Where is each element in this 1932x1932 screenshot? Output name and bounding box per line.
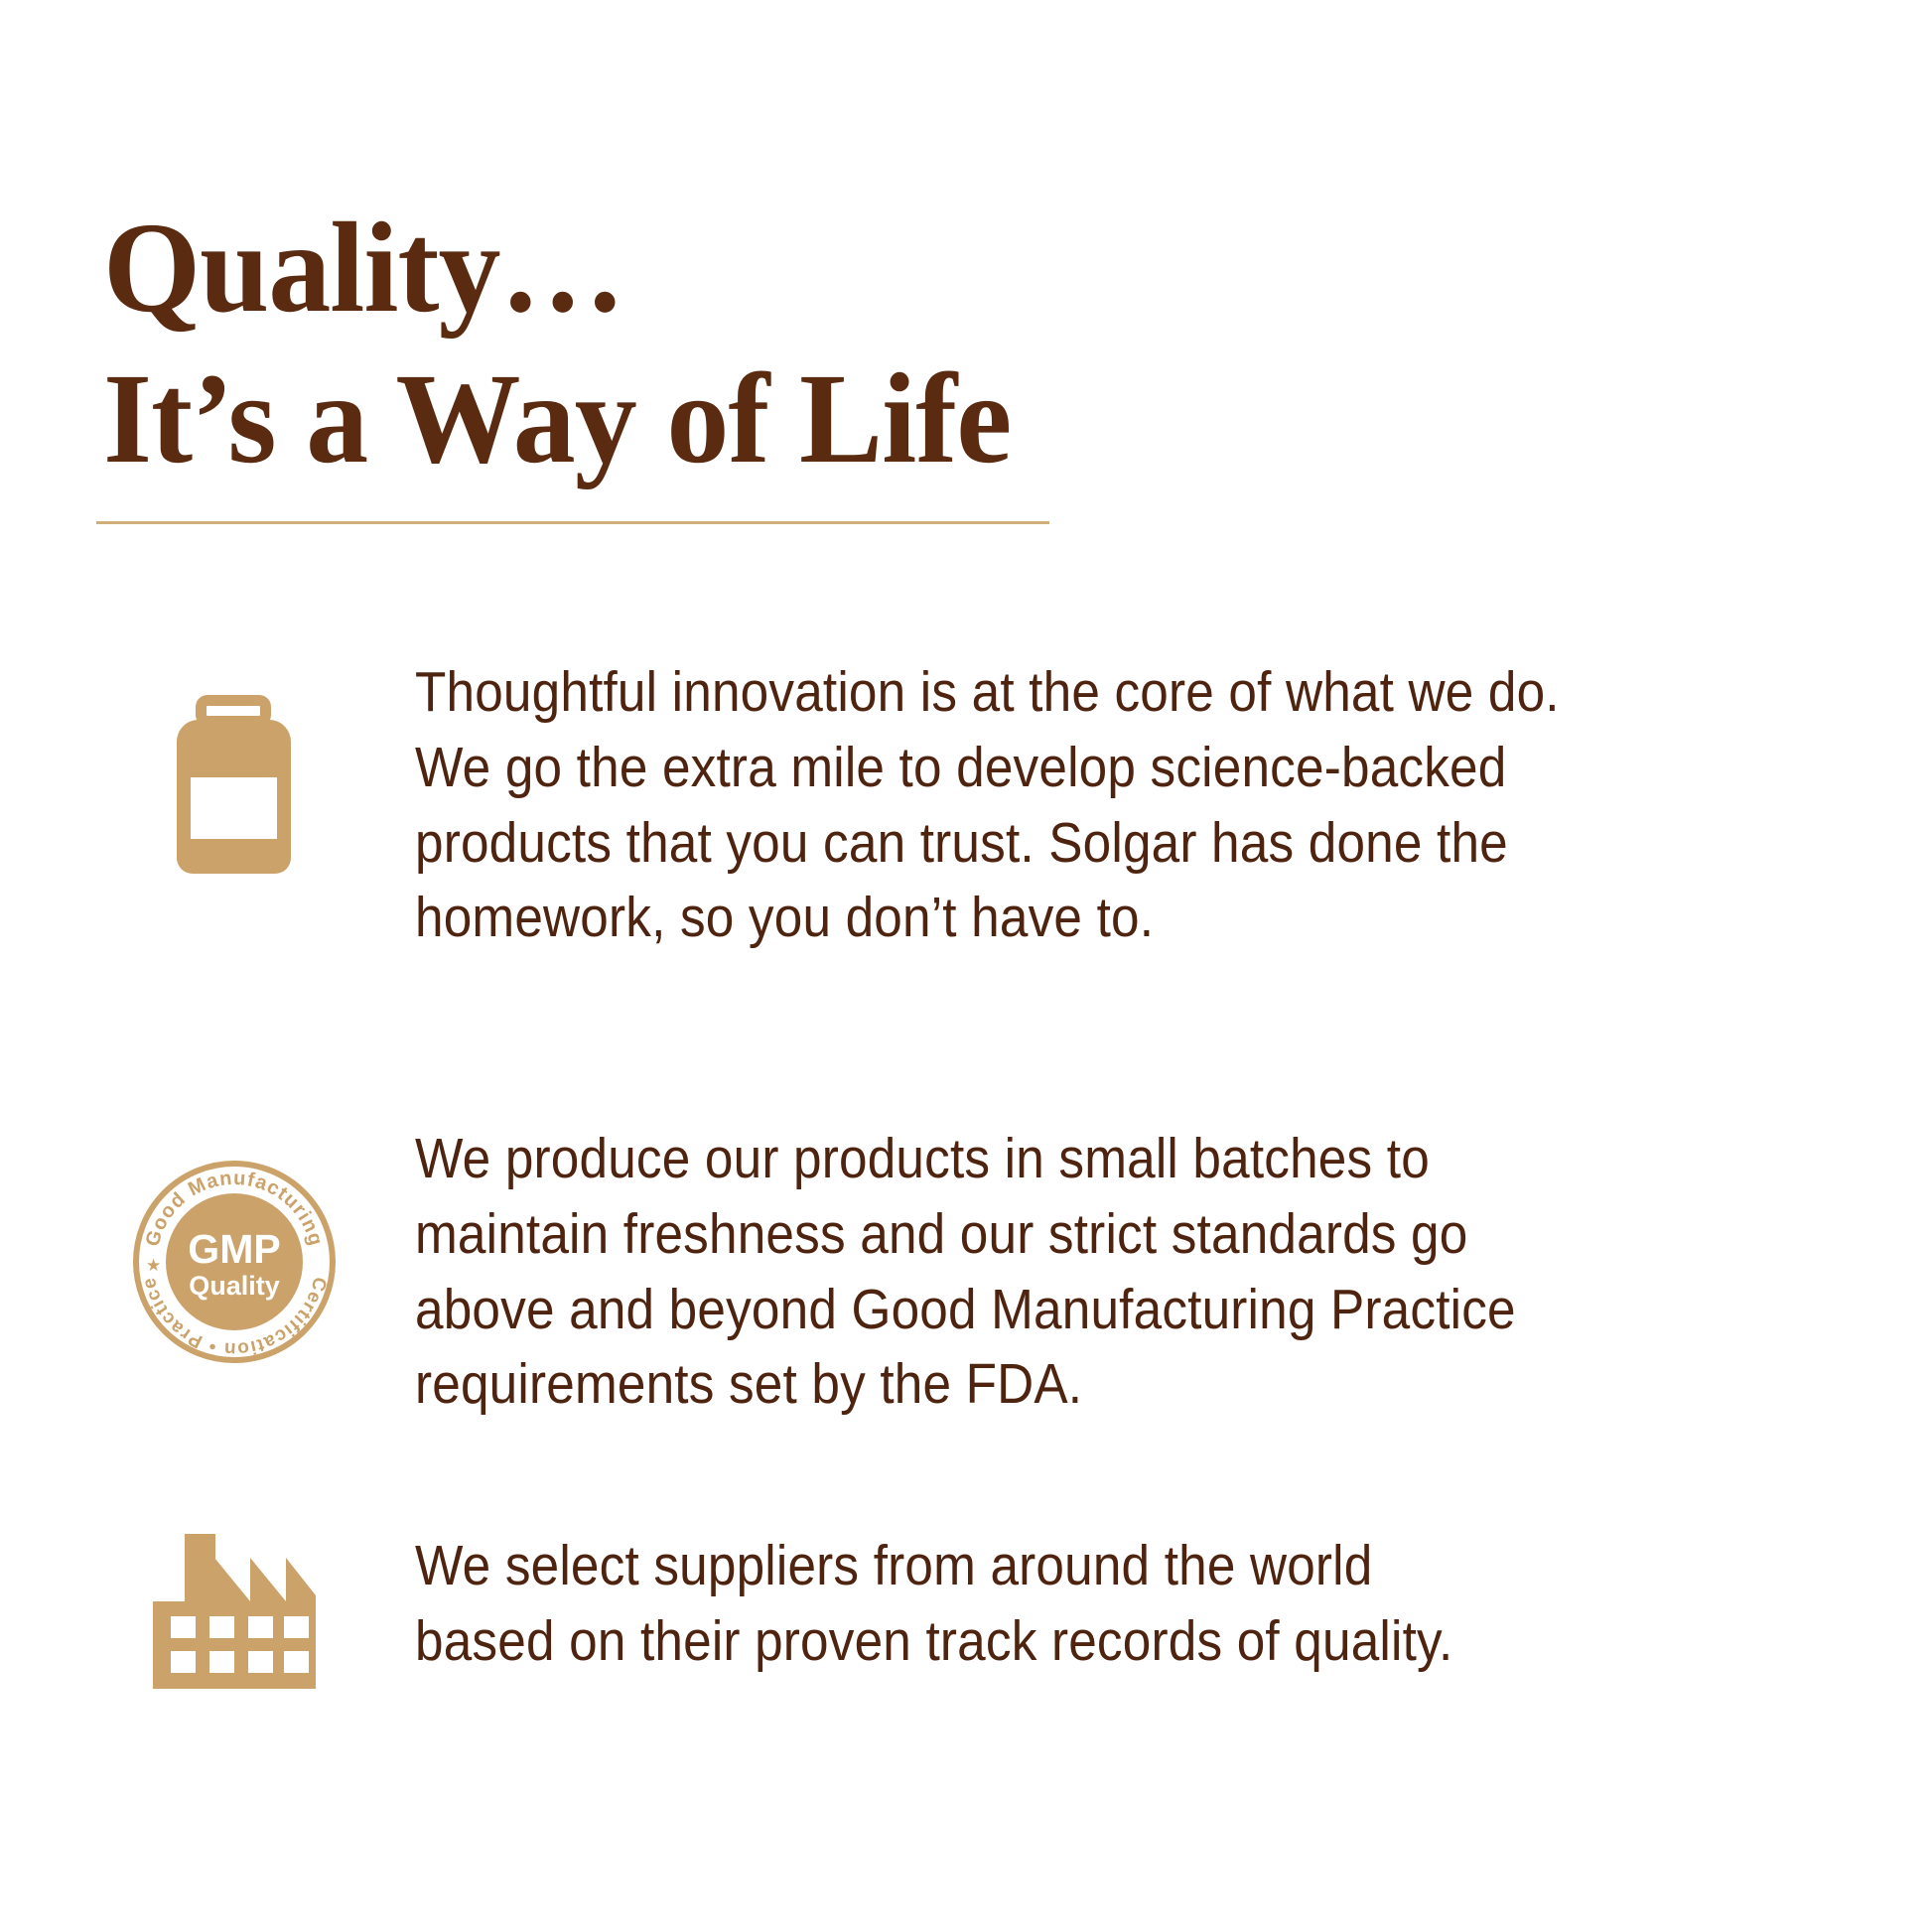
seal-center-quality: Quality (189, 1271, 280, 1301)
quality-page: Quality… It’s a Way of Life Thoughtful i… (0, 0, 1932, 1932)
feature-text-line: We produce our products in small batches… (415, 1122, 1666, 1197)
bottle-label-shape (191, 777, 277, 839)
feature-icon-slot (99, 655, 357, 894)
feature-text-line: Thoughtful innovation is at the core of … (415, 655, 1666, 731)
feature-text-line: based on their proven track records of q… (415, 1604, 1666, 1680)
feature-text-line: We select suppliers from around the worl… (415, 1529, 1666, 1604)
supplement-bottle-icon (177, 695, 291, 874)
page-title-line-2: It’s a Way of Life (103, 344, 1548, 494)
seal-center-gmp: GMP (188, 1226, 280, 1272)
page-title: Quality… It’s a Way of Life (103, 193, 1548, 494)
title-divider (96, 521, 1049, 524)
feature-text-gmp: We produce our products in small batches… (415, 1122, 1666, 1423)
feature-text-line: requirements set by the FDA. (415, 1347, 1666, 1423)
feature-icon-slot: Good Manufacturing Certification • Pract… (99, 1122, 357, 1360)
feature-text-line: products that you can trust. Solgar has … (415, 806, 1666, 882)
feature-text-line: homework, so you don’t have to. (415, 881, 1666, 956)
feature-text-line: We go the extra mile to develop science-… (415, 731, 1666, 806)
seal-star-icon: ★ (146, 1256, 161, 1275)
feature-text-suppliers: We select suppliers from around the worl… (415, 1529, 1666, 1680)
page-title-line-1: Quality… (103, 193, 1548, 344)
factory-icon (153, 1534, 316, 1689)
gmp-quality-seal-icon: Good Manufacturing Certification • Pract… (132, 1160, 337, 1364)
feature-text-line: above and beyond Good Manufacturing Prac… (415, 1273, 1666, 1348)
feature-text-line: maintain freshness and our strict standa… (415, 1197, 1666, 1273)
feature-text-innovation: Thoughtful innovation is at the core of … (415, 655, 1666, 956)
feature-icon-slot (99, 1529, 357, 1767)
